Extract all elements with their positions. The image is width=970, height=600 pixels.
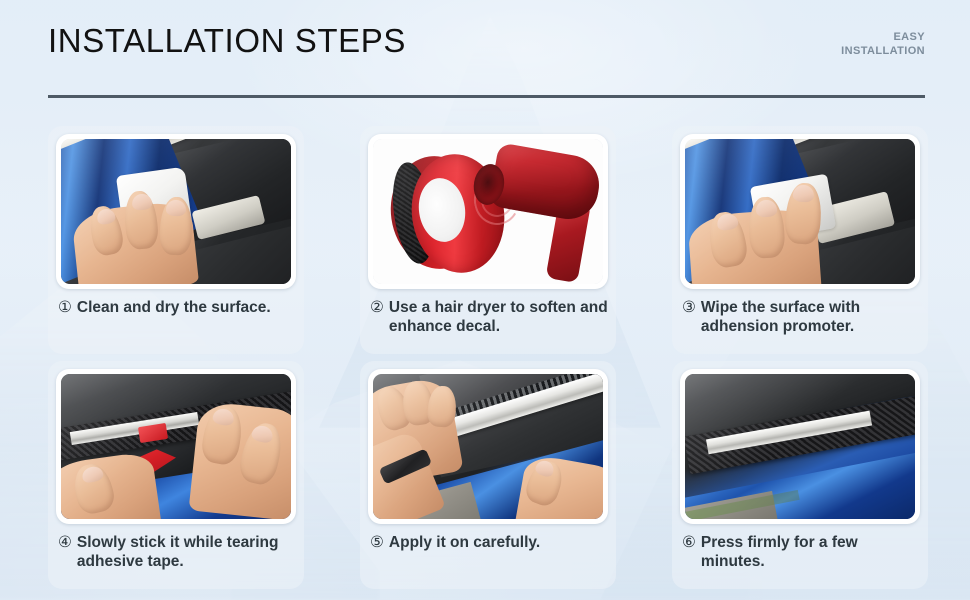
step-number-3: ③ (682, 298, 696, 317)
step-card-3: ③ Wipe the surface with adhension promot… (672, 126, 928, 354)
step-card-1: ① Clean and dry the surface. (48, 126, 304, 354)
step-card-6: ⑥ Press firmly for a few minutes. (672, 361, 928, 589)
step-text-5: Apply it on carefully. (389, 533, 608, 552)
header: INSTALLATION STEPS EASY INSTALLATION (0, 0, 970, 110)
tagline: EASY INSTALLATION (725, 30, 925, 58)
step-number-5: ⑤ (370, 533, 384, 552)
step-card-5: ⑤ Apply it on carefully. (360, 361, 616, 589)
photo-press-firmly (680, 369, 920, 524)
step-caption-5: ⑤ Apply it on carefully. (360, 533, 616, 552)
header-divider (48, 95, 925, 98)
photo-adhesion-promoter (680, 134, 920, 289)
step-number-1: ① (58, 298, 72, 317)
photo-apply-carefully (368, 369, 608, 524)
step-text-4: Slowly stick it while tearing adhesive t… (77, 533, 296, 571)
steps-grid: ① Clean and dry the surface. (48, 126, 928, 596)
step-text-6: Press firmly for a few minutes. (701, 533, 920, 571)
step-caption-3: ③ Wipe the surface with adhension promot… (672, 298, 928, 336)
step-number-4: ④ (58, 533, 72, 552)
photo-hair-dryer (368, 134, 608, 289)
installation-steps-infographic: INSTALLATION STEPS EASY INSTALLATION (0, 0, 970, 600)
step-card-2: ② Use a hair dryer to soften and enhance… (360, 126, 616, 354)
page-title: INSTALLATION STEPS (48, 22, 406, 60)
step-caption-2: ② Use a hair dryer to soften and enhance… (360, 298, 616, 336)
photo-stick-and-tear (56, 369, 296, 524)
photo-clean-surface (56, 134, 296, 289)
step-number-2: ② (370, 298, 384, 317)
tagline-line-1: EASY (725, 30, 925, 44)
step-caption-6: ⑥ Press firmly for a few minutes. (672, 533, 928, 571)
step-caption-1: ① Clean and dry the surface. (48, 298, 304, 317)
step-text-1: Clean and dry the surface. (77, 298, 296, 317)
step-card-4: ④ Slowly stick it while tearing adhesive… (48, 361, 304, 589)
tagline-line-2: INSTALLATION (725, 44, 925, 58)
step-text-3: Wipe the surface with adhension promoter… (701, 298, 920, 336)
step-caption-4: ④ Slowly stick it while tearing adhesive… (48, 533, 304, 571)
step-text-2: Use a hair dryer to soften and enhance d… (389, 298, 608, 336)
step-number-6: ⑥ (682, 533, 696, 552)
